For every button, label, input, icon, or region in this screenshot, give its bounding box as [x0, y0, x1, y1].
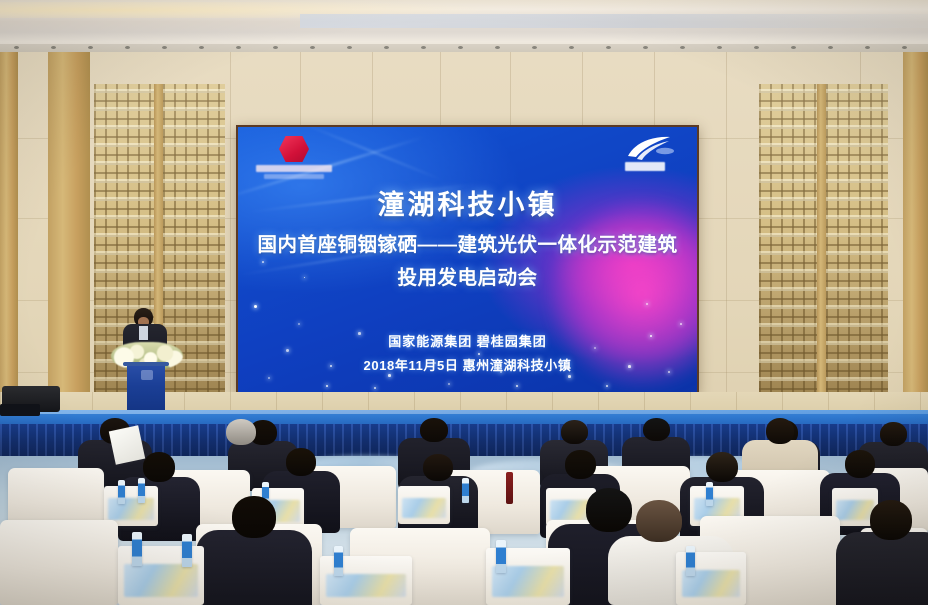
sparkle — [516, 385, 518, 387]
water-bottle — [496, 540, 506, 573]
china-energy-investment-logo — [256, 136, 332, 179]
china-energy-hex-icon — [279, 136, 309, 162]
wall-pilaster-left-inner — [48, 52, 90, 417]
side-table-panel — [124, 564, 198, 597]
sparkle — [606, 385, 608, 387]
side-table-panel — [108, 498, 154, 520]
water-bottle — [118, 480, 125, 504]
downlight — [162, 46, 167, 49]
audience-member-head — [845, 450, 875, 478]
downlight — [680, 46, 685, 49]
audience-member-head — [423, 454, 453, 481]
sparkle — [298, 323, 300, 325]
screen-footer-block: 国家能源集团 碧桂园集团 2018年11月5日 惠州潼湖科技小镇 — [238, 331, 697, 374]
screen-title: 潼湖科技小镇 — [238, 183, 697, 222]
downlight — [606, 46, 611, 49]
lattice-panel-right-a — [759, 84, 817, 417]
audience-member-head — [565, 450, 596, 479]
downlight — [902, 46, 907, 49]
downlight — [125, 46, 130, 49]
screen-subtitle-line2: 投用发电启动会 — [238, 261, 697, 290]
downlight — [458, 46, 463, 49]
side-table-panel — [326, 574, 406, 597]
side-table-panel — [402, 498, 446, 518]
podium-emblem — [141, 370, 153, 380]
wall-seam-vertical — [230, 52, 231, 417]
audience-member-head — [880, 422, 907, 446]
sparkle — [448, 383, 450, 385]
downlight — [828, 46, 833, 49]
country-garden-wordmark — [625, 162, 665, 171]
audience-member-head — [420, 418, 448, 442]
downlight — [865, 46, 870, 49]
lattice-mullion-right — [817, 84, 826, 417]
audience-member-head — [643, 418, 670, 441]
sparkle — [254, 305, 257, 308]
podium-and-speaker — [113, 308, 179, 418]
water-bottle — [462, 478, 469, 503]
sparkle — [388, 374, 391, 377]
downlight — [643, 46, 648, 49]
china-energy-sub-wordmark — [264, 174, 324, 179]
audience-member-head — [706, 452, 738, 482]
sparkle — [326, 385, 328, 387]
wall-pilaster-left-outer — [0, 52, 18, 417]
downlight — [421, 46, 426, 49]
downlight — [14, 46, 19, 49]
audience-member-head — [870, 500, 912, 540]
side-table-panel — [836, 500, 874, 520]
ceiling-cove-light-right — [300, 14, 928, 28]
led-screen-surface: 潼湖科技小镇 国内首座铜铟镓硒——建筑光伏一体化示范建筑 投用发电启动会 国家能… — [238, 127, 697, 392]
audience-member-head — [561, 420, 588, 444]
audience-member-body — [196, 530, 312, 605]
downlight — [495, 46, 500, 49]
stage-platform-highlight — [0, 410, 928, 414]
led-screen: 潼湖科技小镇 国内首座铜铟镓硒——建筑光伏一体化示范建筑 投用发电启动会 国家能… — [236, 125, 699, 394]
china-energy-wordmark — [256, 165, 332, 172]
water-bottle — [686, 546, 695, 576]
audience-member-head-light — [766, 418, 794, 444]
downlight — [273, 46, 278, 49]
sparkle — [568, 375, 571, 378]
audience-member-head — [586, 488, 632, 532]
downlight — [310, 46, 315, 49]
water-bottle — [182, 534, 192, 567]
sparkle — [268, 377, 270, 379]
stage-floor-monitor — [0, 404, 40, 416]
downlight — [791, 46, 796, 49]
podium-base — [123, 362, 169, 366]
downlight — [569, 46, 574, 49]
sparkle — [646, 303, 648, 305]
audience-member-head — [143, 452, 175, 482]
audience-member-head — [286, 448, 316, 476]
downlight — [347, 46, 352, 49]
downlight — [532, 46, 537, 49]
downlight — [236, 46, 241, 49]
sparkle — [680, 323, 682, 325]
thermos-flask — [506, 472, 513, 504]
conference-hall-photo: 潼湖科技小镇 国内首座铜铟镓硒——建筑光伏一体化示范建筑 投用发电启动会 国家能… — [0, 0, 928, 605]
audience-member-body — [836, 532, 928, 605]
water-bottle — [334, 546, 343, 576]
water-bottle — [132, 532, 142, 566]
audience-member-head-grey — [226, 419, 256, 445]
audience-chair[interactable] — [0, 520, 118, 605]
water-bottle — [138, 478, 145, 503]
wall-pilaster-right-outer — [903, 52, 928, 417]
screen-footer-datetime-venue: 2018年11月5日 惠州潼湖科技小镇 — [238, 355, 697, 374]
downlight — [717, 46, 722, 49]
wall-seam-vertical — [726, 52, 727, 417]
audience-member-head-balding — [636, 500, 682, 542]
water-bottle — [706, 482, 713, 506]
screen-title-block: 潼湖科技小镇 国内首座铜铟镓硒——建筑光伏一体化示范建筑 投用发电启动会 — [238, 183, 697, 290]
country-garden-swoosh-icon — [624, 135, 676, 161]
audience-member-head — [232, 496, 276, 538]
sparkle — [374, 387, 376, 389]
downlight — [88, 46, 93, 49]
country-garden-logo — [619, 135, 681, 171]
lattice-panel-right-b — [826, 84, 888, 417]
screen-subtitle-line1: 国内首座铜铟镓硒——建筑光伏一体化示范建筑 — [238, 228, 697, 257]
downlight — [199, 46, 204, 49]
downlight — [754, 46, 759, 49]
downlight — [384, 46, 389, 49]
speaker-shirt — [139, 326, 148, 340]
downlight — [51, 46, 56, 49]
screen-footer-organizers: 国家能源集团 碧桂园集团 — [238, 331, 697, 350]
